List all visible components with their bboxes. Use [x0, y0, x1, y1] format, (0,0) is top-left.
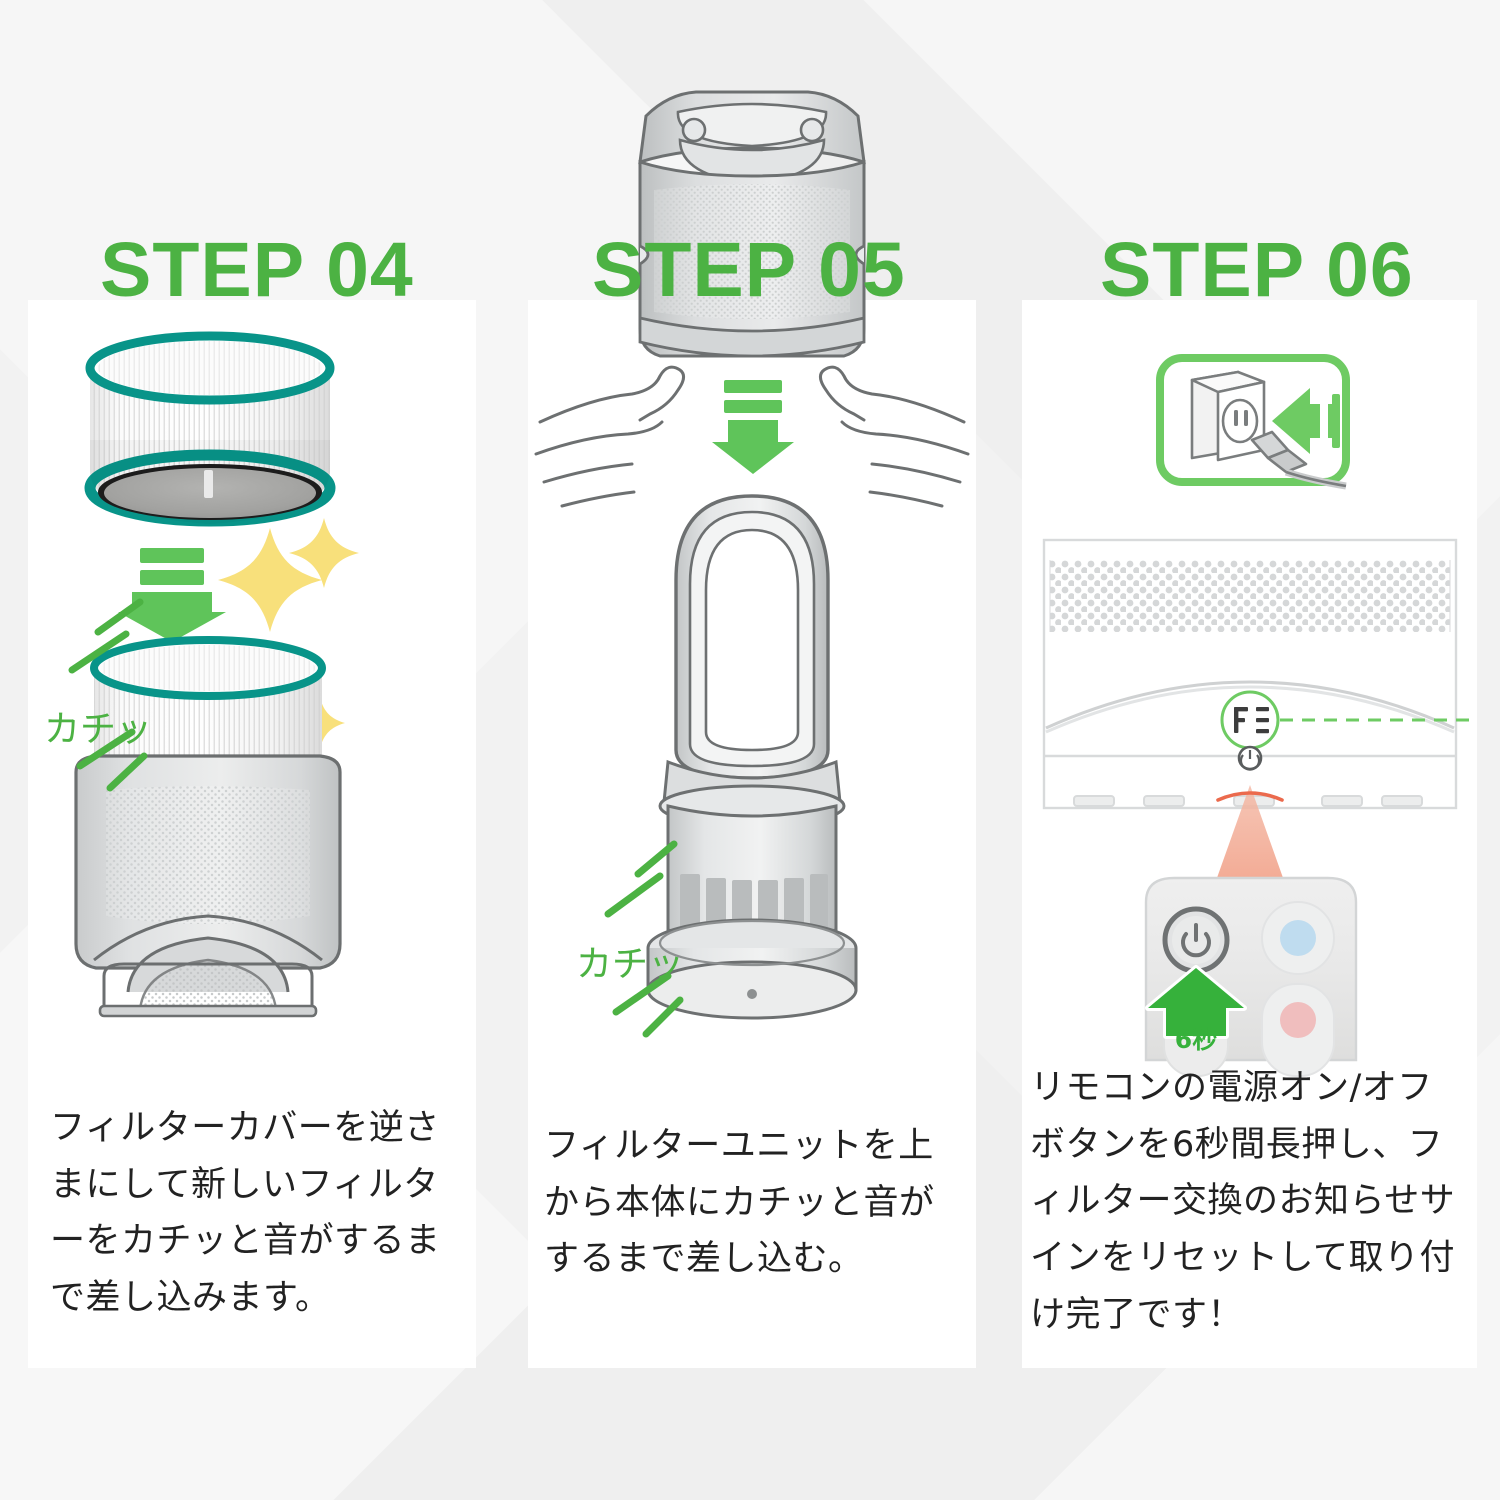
cooling-button[interactable] [1262, 902, 1334, 974]
step-caption-05: フィルターユニットを上から本体にカチッと音がするまで差し込む。 [544, 1118, 962, 1288]
step-caption-04: フィルターカバーを逆さまにして新しいフィルターをカチッと音がするまで差し込みます… [50, 1100, 462, 1327]
click-sound-label-04: カチッ [44, 700, 152, 752]
illustration-06: 6秒 [1022, 40, 1477, 1060]
down-arrow-icon [712, 380, 794, 474]
step-card-05: STEP 05 [528, 0, 976, 1500]
step-heading-04: STEP 04 [100, 232, 414, 309]
step-heading-06: STEP 06 [1100, 232, 1414, 309]
step-card-06: STEP 06 [1022, 0, 1477, 1500]
device-body [1044, 540, 1474, 808]
filter-unit [640, 92, 864, 356]
power-button-icon [1239, 747, 1261, 770]
infographic-root: STEP 04 [0, 0, 1500, 1500]
power-on-off-button[interactable] [1165, 909, 1227, 971]
click-sound-label-05: カチッ [576, 935, 684, 987]
step-card-04: STEP 04 [28, 0, 476, 1500]
remote-control: 6秒 [1146, 878, 1356, 1076]
step-heading-05: STEP 05 [592, 232, 906, 309]
hold-duration-label: 6秒 [1175, 1025, 1217, 1054]
step-caption-06: リモコンの電源オン/オフボタンを6秒間長押し、フィルター交換のお知らせサインをリ… [1030, 1060, 1463, 1343]
hepa-filter-top [90, 336, 330, 524]
outlet-plug-icon [1160, 358, 1346, 486]
